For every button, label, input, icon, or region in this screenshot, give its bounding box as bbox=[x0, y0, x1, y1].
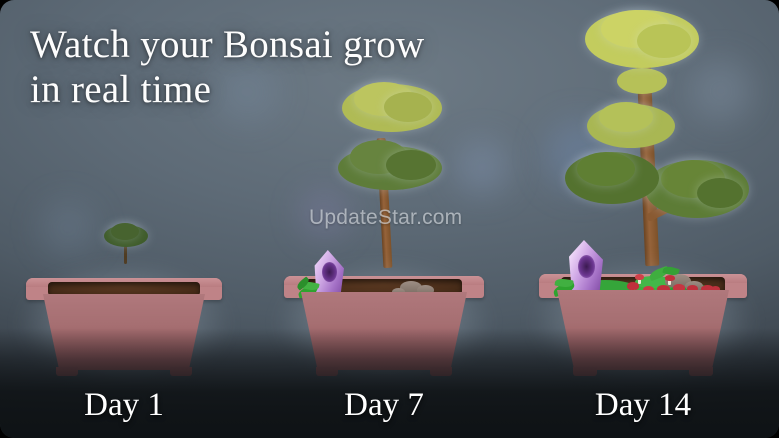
mushroom-cap bbox=[635, 274, 644, 280]
stage-day-14 bbox=[539, 0, 747, 376]
tree-canopy-mid-puff-a bbox=[599, 102, 653, 132]
page-title: Watch your Bonsai grow in real time bbox=[30, 22, 570, 112]
bonsai-tree-day-14 bbox=[549, 0, 745, 266]
pot-decorations-day-7 bbox=[284, 246, 484, 292]
bonsai-tree-day-1 bbox=[98, 216, 154, 264]
tree-canopy-small-light bbox=[617, 68, 667, 94]
day-label-2: Day 7 bbox=[284, 387, 484, 424]
pot-decorations-day-14 bbox=[539, 240, 747, 292]
day-label-1: Day 1 bbox=[24, 387, 224, 424]
tree-canopy-lower-puff-b bbox=[386, 150, 436, 180]
mushroom-cap bbox=[665, 275, 675, 281]
tree-canopy-left-puff-a bbox=[577, 152, 635, 186]
watermark-text: UpdateStar.com bbox=[309, 206, 462, 230]
pot-soil bbox=[48, 282, 200, 296]
amethyst-crystal-core bbox=[578, 255, 595, 278]
bonsai-growth-banner: Watch your Bonsai grow in real time Upda… bbox=[0, 0, 779, 438]
amethyst-crystal-core bbox=[322, 262, 337, 282]
tree-canopy-crown-puff-b bbox=[637, 24, 691, 58]
day-label-3: Day 14 bbox=[539, 387, 747, 424]
tree-canopy-right-puff-b bbox=[697, 178, 743, 208]
tree-canopy-puff-a bbox=[111, 223, 139, 240]
